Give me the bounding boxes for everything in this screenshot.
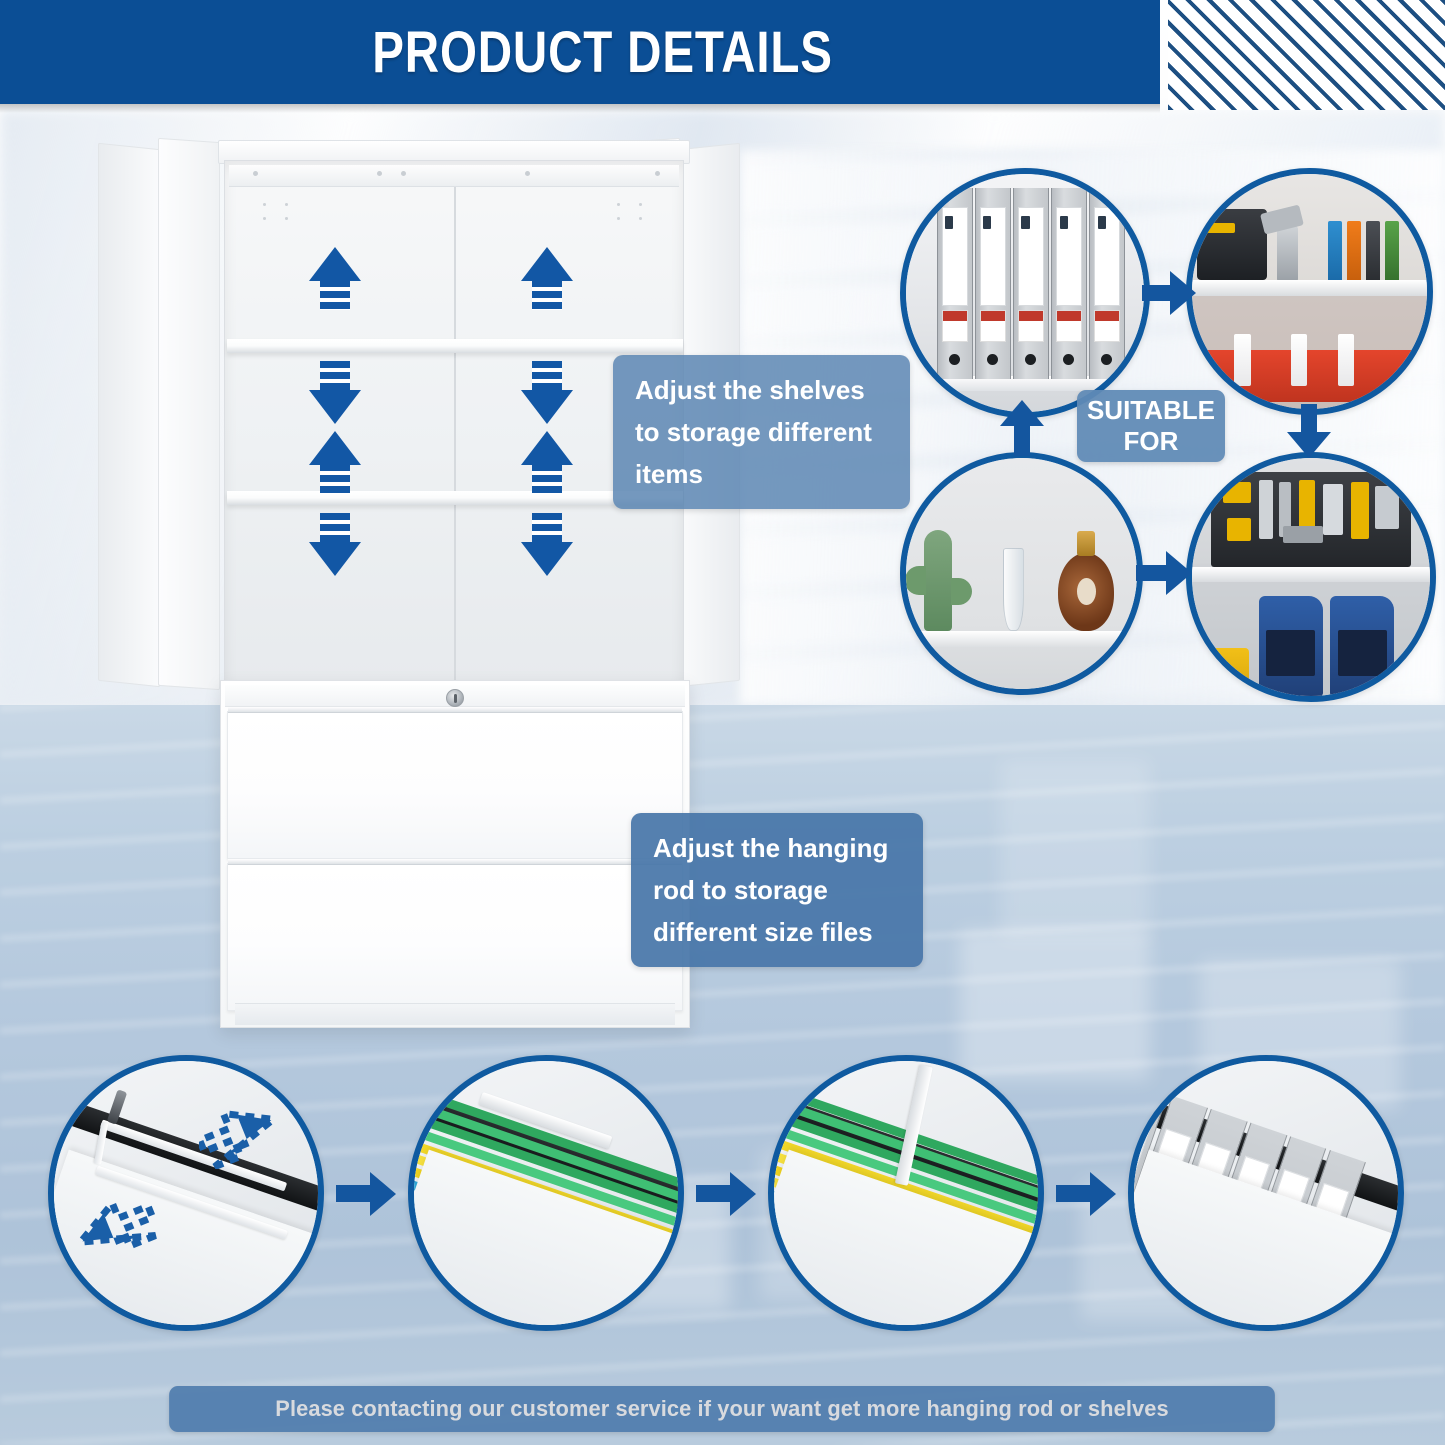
arrow-shaft	[1014, 424, 1030, 456]
shelf-adjust-arrow-up	[521, 247, 573, 310]
shelf-adjust-arrow-up	[309, 247, 361, 310]
shelf-adjust-arrow-up	[309, 431, 361, 494]
binder-red-label	[1018, 310, 1044, 342]
bottle	[1338, 334, 1354, 386]
step-arrow-1-to-2	[336, 1172, 398, 1216]
step-arrow-3-to-4	[1056, 1172, 1118, 1216]
shelf-pin-hole	[285, 203, 288, 206]
adjustable-shelf	[227, 339, 683, 353]
binder-label	[1056, 207, 1082, 306]
arrow-head-icon	[521, 247, 573, 281]
arrow-head-icon	[309, 390, 361, 424]
rail-adjust-arrow-up	[199, 1103, 281, 1169]
suitable-for-line1: SUITABLE	[1087, 395, 1215, 426]
arrow-tail	[532, 513, 562, 543]
arrow-head-icon	[1166, 551, 1192, 595]
background-blob	[1000, 760, 1150, 940]
binder-red-label	[1056, 310, 1082, 342]
arrow-shaft	[1136, 565, 1170, 581]
cactus-figurine	[924, 530, 952, 632]
callout-adjust-shelves: Adjust the shelves to storage different …	[613, 355, 910, 509]
cabinet-door-left-inner	[158, 138, 220, 690]
binder	[937, 188, 973, 378]
drawer-pull[interactable]	[228, 859, 682, 865]
step-arrow-2-to-3	[696, 1172, 758, 1216]
binder	[1051, 188, 1087, 378]
suitable-photo-garage	[1186, 168, 1433, 415]
arrow-shaft	[1056, 1185, 1094, 1202]
photo-tools	[1192, 458, 1430, 696]
arrow-tail	[532, 280, 562, 310]
motor-oil-jug	[1259, 596, 1323, 696]
photo-binders	[906, 174, 1144, 412]
callout-adjust-hanging-rod: Adjust the hanging rod to storage differ…	[631, 813, 923, 967]
shelf-edge	[906, 631, 1137, 647]
tool	[1375, 486, 1399, 530]
rivet	[401, 171, 406, 176]
connector-arrow-right-bottom	[1136, 551, 1192, 595]
shelf-pin-hole	[639, 217, 642, 220]
binder	[975, 188, 1011, 378]
photo-folders-partial	[414, 1061, 678, 1325]
shelf-edge	[1192, 280, 1427, 296]
step-photo-binder-storage	[1128, 1055, 1404, 1331]
binder-label	[942, 207, 968, 306]
tool	[1323, 484, 1343, 535]
step-photo-empty-drawer-rails	[48, 1055, 324, 1331]
binder-finger-hole	[1063, 354, 1074, 365]
aerosol-can	[1385, 221, 1399, 282]
shelf-pin-hole	[617, 203, 620, 206]
champagne-flute	[1003, 548, 1024, 631]
cabinet-plinth	[235, 1003, 675, 1025]
shelf-pin-hole	[263, 203, 266, 206]
yellow-bin	[1206, 648, 1249, 696]
rivet	[377, 171, 382, 176]
connector-arrow-down-right	[1287, 404, 1331, 456]
binder-label	[1018, 207, 1044, 306]
photo-garage	[1192, 174, 1427, 409]
infographic-canvas: PRODUCT DETAILS	[0, 0, 1445, 1445]
arrow-head-icon	[521, 390, 573, 424]
photo-decor	[906, 458, 1137, 689]
bottle	[1291, 334, 1307, 386]
photo-folders-full	[774, 1061, 1038, 1325]
arrow-head-icon	[521, 431, 573, 465]
connector-arrow-right-top	[1142, 271, 1194, 315]
suitable-photo-binders	[900, 168, 1150, 418]
shelf-adjust-arrow-down	[521, 513, 573, 576]
arrow-head-icon	[309, 542, 361, 576]
binder-finger-hole	[1101, 354, 1112, 365]
photo-binders-drawer	[1134, 1061, 1398, 1325]
shelf-pin-hole	[285, 217, 288, 220]
cognac-decanter	[1058, 553, 1113, 632]
binder-label	[980, 207, 1006, 306]
binder-label	[1094, 207, 1120, 306]
drawer-top[interactable]	[227, 711, 683, 859]
cabinet-door-left-outer	[98, 143, 160, 688]
binder-red-label	[980, 310, 1006, 342]
drawer-unit	[220, 680, 690, 1028]
shelf-edge	[1192, 567, 1430, 581]
tool	[1259, 480, 1273, 539]
arrow-tail	[320, 513, 350, 543]
lock-icon[interactable]	[446, 689, 464, 707]
tool	[1227, 518, 1251, 541]
arrow-head-icon	[309, 431, 361, 465]
drawer-bottom[interactable]	[227, 863, 683, 1011]
shelf-pin-hole	[263, 217, 266, 220]
rivet	[655, 171, 660, 176]
drawer-pull[interactable]	[228, 707, 682, 713]
motor-oil-jug	[1330, 596, 1394, 696]
tool-organizer-tray	[1211, 472, 1411, 567]
header-shadow	[0, 104, 1160, 113]
suitable-photo-decor	[900, 452, 1143, 695]
suitable-for-badge: SUITABLE FOR	[1077, 390, 1225, 462]
rivet	[525, 171, 530, 176]
suitable-for-line2: FOR	[1124, 426, 1179, 457]
diagonal-stripes-decoration	[1168, 0, 1445, 110]
aerosol-can	[1328, 221, 1342, 282]
arrow-tail	[320, 280, 350, 310]
connector-arrow-up-left	[1000, 400, 1044, 456]
arrow-tail	[320, 361, 350, 391]
cabinet-back-seam	[454, 187, 456, 687]
arrow-head-icon	[1170, 271, 1196, 315]
shelf-pin-hole	[617, 217, 620, 220]
arrow-head-icon	[1090, 1172, 1116, 1216]
shelf-pin-hole	[639, 203, 642, 206]
background-blob	[960, 930, 1150, 1080]
arrow-shaft	[696, 1185, 734, 1202]
bottle	[1234, 334, 1250, 386]
page-title: PRODUCT DETAILS	[104, 0, 1055, 104]
rail-adjust-arrow-down	[75, 1198, 157, 1264]
shelf-adjust-arrow-down	[309, 361, 361, 424]
photo-drawer-rails	[54, 1061, 318, 1325]
shelf-adjust-arrow-down	[309, 513, 361, 576]
suitable-photo-tools	[1186, 452, 1436, 702]
arrow-shaft	[336, 1185, 374, 1202]
tool	[1223, 482, 1251, 503]
tool-case	[1197, 209, 1268, 280]
tool	[1351, 482, 1369, 539]
step-photo-full-folders	[768, 1055, 1044, 1331]
step-photo-partial-folders	[408, 1055, 684, 1331]
arrow-tail	[532, 361, 562, 391]
arrow-head-icon	[1000, 400, 1044, 426]
arrow-head-icon	[370, 1172, 396, 1216]
arrow-head-icon	[1287, 432, 1331, 458]
binder-finger-hole	[1025, 354, 1036, 365]
binder-red-label	[942, 310, 968, 342]
shelf-adjust-arrow-down	[521, 361, 573, 424]
binder-finger-hole	[949, 354, 960, 365]
spray-gun	[1277, 226, 1298, 282]
cabinet-top-rail	[229, 165, 679, 187]
binder-red-label	[1094, 310, 1120, 342]
rivet	[253, 171, 258, 176]
aerosol-can	[1366, 221, 1380, 282]
arrow-head-icon	[730, 1172, 756, 1216]
shelf-adjust-arrow-up	[521, 431, 573, 494]
tool	[1283, 526, 1323, 543]
arrow-head-icon	[521, 542, 573, 576]
binder	[1089, 188, 1125, 378]
arrow-tail	[320, 464, 350, 494]
customer-service-banner: Please contacting our customer service i…	[169, 1386, 1275, 1432]
binder-finger-hole	[987, 354, 998, 365]
binder	[1013, 188, 1049, 378]
arrow-head-icon	[309, 247, 361, 281]
arrow-tail	[532, 464, 562, 494]
aerosol-can	[1347, 221, 1361, 282]
